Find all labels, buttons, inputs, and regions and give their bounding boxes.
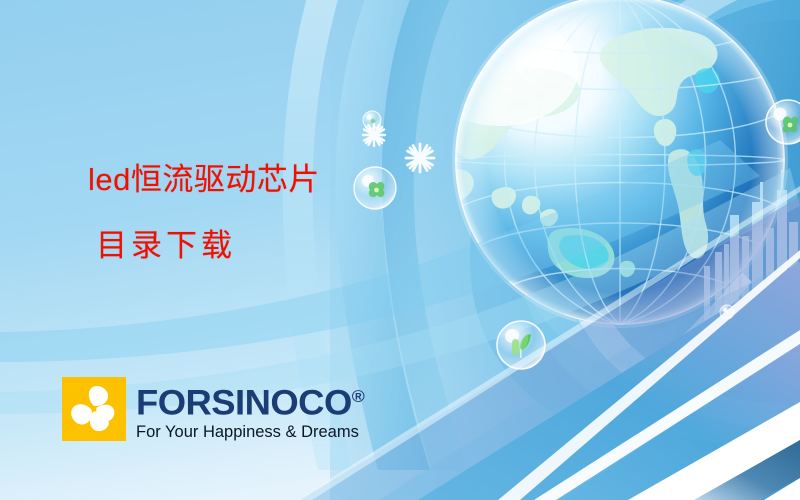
snowflake-icon bbox=[363, 124, 385, 146]
bubble-with-leaf-icon bbox=[497, 321, 545, 369]
logo-wordmark-text: FORSINOCO bbox=[136, 384, 352, 423]
bubble-icon bbox=[720, 305, 734, 319]
page-title: led恒流驱动芯片 目录下载 bbox=[88, 160, 320, 266]
logo-wordmark: FORSINOCO® bbox=[136, 379, 365, 422]
bubble-with-leaf-icon bbox=[354, 167, 396, 209]
page-title-line-2: 目录下载 bbox=[96, 226, 320, 266]
four-petal-flower-icon bbox=[62, 377, 126, 441]
snowflake-icon bbox=[406, 144, 434, 172]
banner-image: led恒流驱动芯片 目录下载 FORSINOCO® For Your Happi… bbox=[0, 0, 800, 500]
logo-text-block: FORSINOCO® For Your Happiness & Dreams bbox=[136, 377, 359, 442]
page-title-line-1: led恒流驱动芯片 bbox=[88, 160, 320, 200]
brand-logo[interactable]: FORSINOCO® For Your Happiness & Dreams bbox=[62, 377, 359, 442]
registered-trademark-icon: ® bbox=[352, 387, 365, 406]
logo-tagline: For Your Happiness & Dreams bbox=[136, 423, 359, 442]
